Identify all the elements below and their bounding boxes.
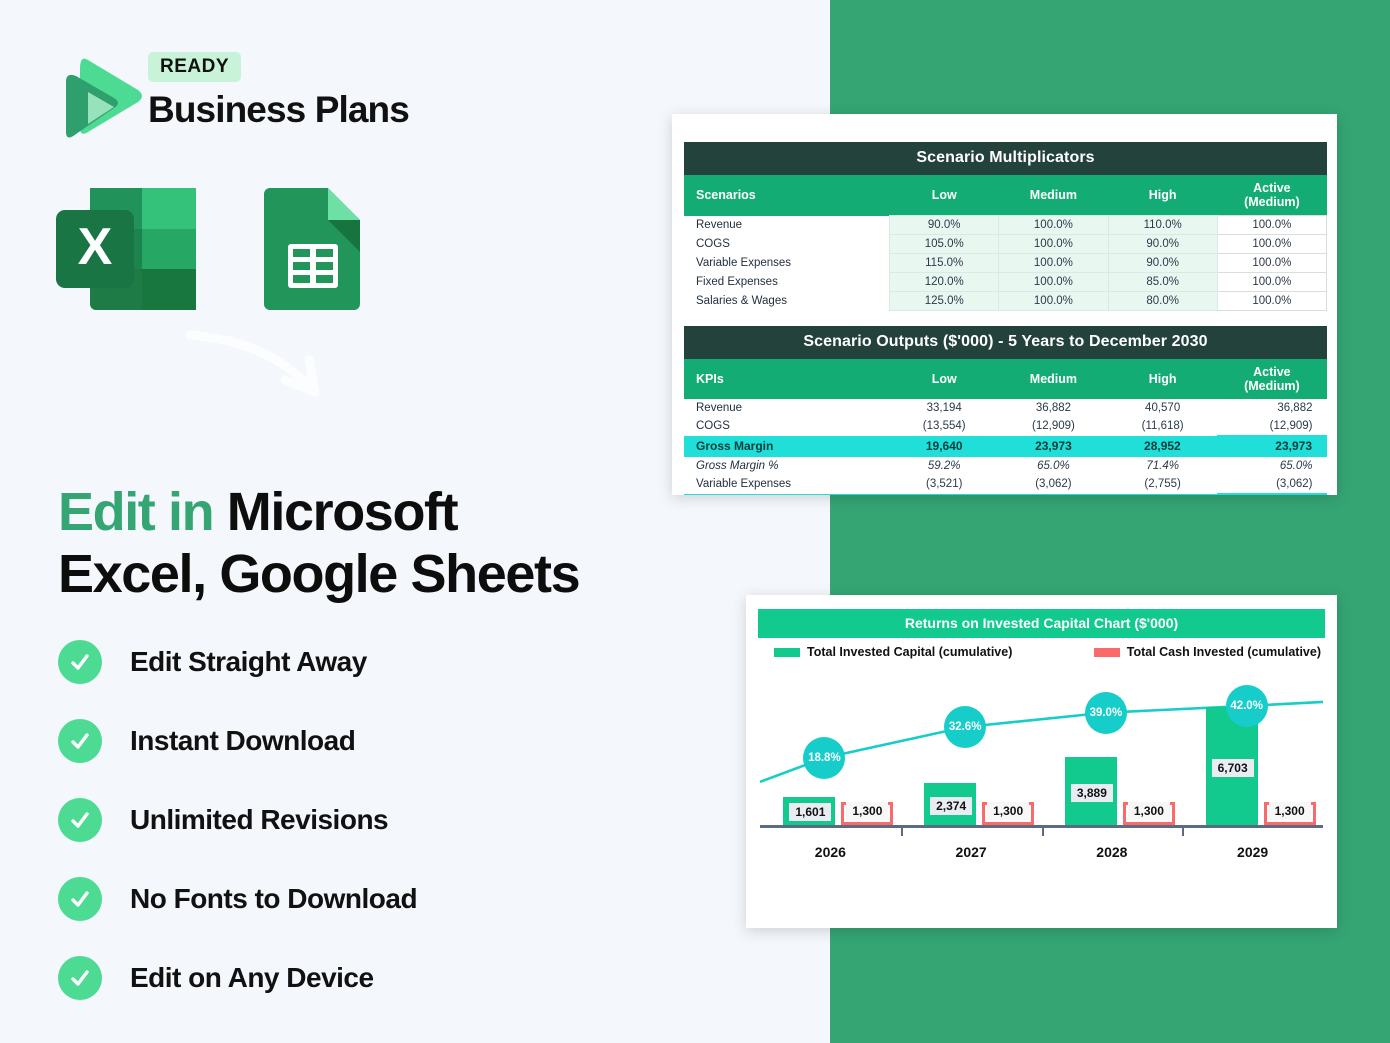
cell-low[interactable]: 105.0% (890, 235, 999, 254)
bar-value-label: 3,889 (1071, 784, 1113, 802)
col-header-active: Active (Medium) (1217, 359, 1326, 399)
outputs-title: Scenario Outputs ($'000) - 5 Years to De… (684, 326, 1327, 359)
cell-high[interactable]: 110.0% (1108, 216, 1217, 235)
cell-low[interactable]: 115.0% (890, 254, 999, 273)
table-row: Gross Margin % 59.2% 65.0% 71.4% 65.0% (684, 457, 1327, 476)
cell-high: 28,952 (1108, 436, 1217, 457)
scenario-spreadsheet-card: Scenario Multiplicators Scenarios Low Me… (672, 114, 1337, 495)
bar-value-label: 1,601 (789, 803, 831, 821)
cell-high: 40,570 (1108, 399, 1217, 417)
x-axis-label: 2029 (1237, 844, 1268, 860)
feature-label: Instant Download (130, 725, 355, 757)
table-row: COGS 105.0% 100.0% 90.0% 100.0% (684, 235, 1327, 254)
cell-medium: 65.0% (999, 457, 1108, 476)
cell-active[interactable]: 100.0% (1217, 216, 1326, 235)
headline-rest: Microsoft (213, 482, 457, 542)
table-row: Fixed Expenses 120.0% 100.0% 85.0% 100.0… (684, 273, 1327, 292)
col-header-scenarios: Scenarios (684, 175, 890, 216)
cell-active: 36,882 (1217, 399, 1326, 417)
cell-low: 33,194 (890, 399, 999, 417)
row-label: Revenue (684, 216, 890, 235)
bar-value-label: 1,300 (1128, 802, 1170, 820)
list-item: No Fonts to Download (58, 859, 698, 938)
table-row-highlight: Gross Margin 19,640 23,973 28,952 23,973 (684, 436, 1327, 457)
brand-name: Business Plans (148, 91, 409, 130)
x-axis-tick (1042, 828, 1044, 836)
col-header-high: High (1108, 359, 1217, 399)
legend-label: Total Invested Capital (cumulative) (807, 645, 1012, 659)
table-header-row: KPIs Low Medium High Active (Medium) (684, 359, 1327, 399)
cell-active: (3,062) (1217, 475, 1326, 494)
x-axis-tick (1182, 828, 1184, 836)
legend-label: Total Cash Invested (cumulative) (1127, 645, 1321, 659)
table-row: Variable Expenses 115.0% 100.0% 90.0% 10… (684, 254, 1327, 273)
page-title: Edit in Microsoft Excel, Google Sheets (58, 482, 758, 605)
legend-item-invested-capital: Total Invested Capital (cumulative) (774, 645, 1012, 659)
list-item: Edit on Any Device (58, 938, 698, 1017)
cell-medium[interactable]: 100.0% (999, 273, 1108, 292)
col-header-active: Active (Medium) (1217, 175, 1326, 216)
col-header-low: Low (890, 359, 999, 399)
headline-line2: Excel, Google Sheets (58, 544, 579, 604)
cell-medium[interactable]: 100.0% (999, 235, 1108, 254)
curved-arrow-icon (185, 330, 345, 410)
table-row-highlight: Contribution Margin 16,119 20,912 26,197… (684, 494, 1327, 496)
cell-medium[interactable]: 100.0% (999, 254, 1108, 273)
row-label: Variable Expenses (684, 475, 890, 494)
brand-text: READY Business Plans (148, 52, 409, 130)
legend-swatch-coral (1094, 648, 1120, 657)
feature-label: Unlimited Revisions (130, 804, 388, 836)
legend-swatch-green (774, 648, 800, 657)
table-row: Revenue 33,194 36,882 40,570 36,882 (684, 399, 1327, 417)
check-icon (58, 719, 102, 763)
check-icon (58, 877, 102, 921)
cell-high: (11,618) (1108, 417, 1217, 436)
cell-high[interactable]: 85.0% (1108, 273, 1217, 292)
table-header-row: Scenarios Low Medium High Active (Medium… (684, 175, 1327, 216)
x-axis-label: 2027 (956, 844, 987, 860)
roic-chart-card: Returns on Invested Capital Chart ($'000… (746, 595, 1337, 928)
cell-medium: (3,062) (999, 475, 1108, 494)
cell-low[interactable]: 120.0% (890, 273, 999, 292)
cell-low: 16,119 (890, 494, 999, 496)
row-label: COGS (684, 417, 890, 436)
legend-item-cash-invested: Total Cash Invested (cumulative) (1094, 645, 1321, 659)
feature-label: No Fonts to Download (130, 883, 417, 915)
row-label: Salaries & Wages (684, 292, 890, 311)
google-sheets-icon (264, 188, 360, 310)
col-header-low: Low (890, 175, 999, 216)
bar-value-label: 2,374 (930, 797, 972, 815)
microsoft-excel-icon: X (56, 188, 196, 310)
cell-active: (12,909) (1217, 417, 1326, 436)
cell-active[interactable]: 100.0% (1217, 292, 1326, 311)
cell-low: (3,521) (890, 475, 999, 494)
bar-value-label: 1,300 (987, 802, 1029, 820)
row-label: Variable Expenses (684, 254, 890, 273)
cell-medium[interactable]: 100.0% (999, 216, 1108, 235)
roic-data-point: 42.0% (1226, 685, 1268, 727)
spacer-row (684, 311, 1327, 327)
cell-high: (2,755) (1108, 475, 1217, 494)
check-icon (58, 640, 102, 684)
row-label: Contribution Margin (684, 494, 890, 496)
list-item: Instant Download (58, 701, 698, 780)
cell-low: 59.2% (890, 457, 999, 476)
cell-low[interactable]: 125.0% (890, 292, 999, 311)
cell-medium[interactable]: 100.0% (999, 292, 1108, 311)
table-row: Variable Expenses (3,521) (3,062) (2,755… (684, 475, 1327, 494)
x-axis-label: 2026 (815, 844, 846, 860)
cell-medium: (12,909) (999, 417, 1108, 436)
bar-value-label: 1,300 (846, 802, 888, 820)
scenario-multipliers-table: Scenarios Low Medium High Active (Medium… (684, 175, 1327, 326)
check-icon (58, 798, 102, 842)
cell-low[interactable]: 90.0% (890, 216, 999, 235)
x-axis-label: 2028 (1096, 844, 1127, 860)
cell-active[interactable]: 100.0% (1217, 273, 1326, 292)
cell-active: 65.0% (1217, 457, 1326, 476)
col-header-medium: Medium (999, 359, 1108, 399)
list-item: Edit Straight Away (58, 622, 698, 701)
row-label: Gross Margin % (684, 457, 890, 476)
multipliers-title: Scenario Multiplicators (684, 142, 1327, 175)
ready-badge: READY (148, 52, 241, 82)
cell-low: 19,640 (890, 436, 999, 457)
cell-low: (13,554) (890, 417, 999, 436)
row-label: Revenue (684, 399, 890, 417)
col-header-high: High (1108, 175, 1217, 216)
scenario-outputs-table: KPIs Low Medium High Active (Medium) Rev… (684, 359, 1327, 495)
feature-label: Edit on Any Device (130, 962, 374, 994)
row-label: Fixed Expenses (684, 273, 890, 292)
cell-high[interactable]: 90.0% (1108, 254, 1217, 273)
cell-high[interactable]: 90.0% (1108, 235, 1217, 254)
roic-data-point: 32.6% (944, 706, 986, 748)
row-label: COGS (684, 235, 890, 254)
app-icons-row: X (56, 188, 376, 310)
table-row: Salaries & Wages 125.0% 100.0% 80.0% 100… (684, 292, 1327, 311)
roic-data-point: 39.0% (1085, 692, 1127, 734)
row-label: Gross Margin (684, 436, 890, 457)
bar-value-label: 6,703 (1212, 759, 1254, 777)
cell-medium: 23,973 (999, 436, 1108, 457)
chart-legend: Total Invested Capital (cumulative) Tota… (774, 645, 1321, 659)
cell-active[interactable]: 100.0% (1217, 235, 1326, 254)
chart-plot-area: 1,6011,300202618.8%2,3741,300202732.6%3,… (760, 659, 1323, 864)
cell-active[interactable]: 100.0% (1217, 254, 1326, 273)
cell-medium: 20,912 (999, 494, 1108, 496)
list-item: Unlimited Revisions (58, 780, 698, 859)
check-icon (58, 956, 102, 1000)
feature-label: Edit Straight Away (130, 646, 367, 678)
col-header-medium: Medium (999, 175, 1108, 216)
cell-high: 26,197 (1108, 494, 1217, 496)
chart-title: Returns on Invested Capital Chart ($'000… (758, 609, 1325, 638)
table-row: Revenue 90.0% 100.0% 110.0% 100.0% (684, 216, 1327, 235)
headline-accent: Edit in (58, 482, 213, 542)
brand-logo-block: READY Business Plans (58, 52, 478, 162)
table-row: COGS (13,554) (12,909) (11,618) (12,909) (684, 417, 1327, 436)
cell-active: 20,912 (1217, 494, 1326, 496)
feature-list: Edit Straight Away Instant Download Unli… (58, 622, 698, 1017)
play-triangle-logo-icon (58, 52, 142, 150)
svg-text:X: X (78, 218, 113, 276)
bar-value-label: 1,300 (1269, 802, 1311, 820)
cell-high: 71.4% (1108, 457, 1217, 476)
roic-data-point: 18.8% (803, 737, 845, 779)
col-header-kpis: KPIs (684, 359, 890, 399)
cell-active: 23,973 (1217, 436, 1326, 457)
cell-high[interactable]: 80.0% (1108, 292, 1217, 311)
cell-medium: 36,882 (999, 399, 1108, 417)
x-axis-tick (901, 828, 903, 836)
